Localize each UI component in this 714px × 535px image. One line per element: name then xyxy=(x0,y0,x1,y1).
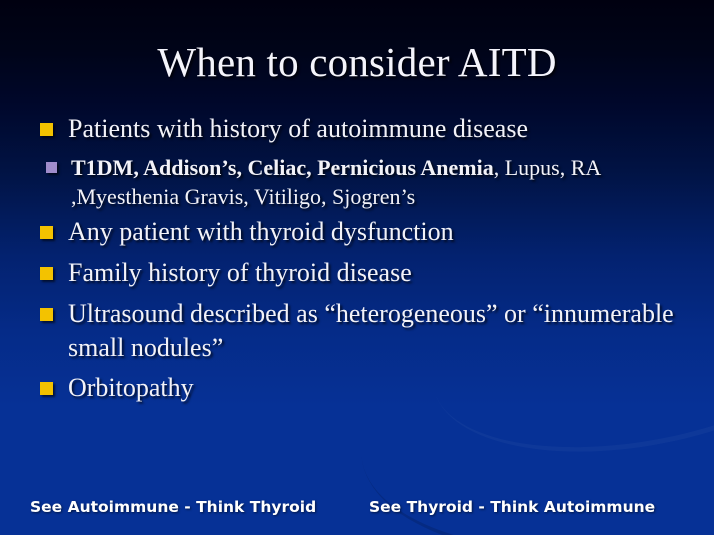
square-bullet-icon xyxy=(40,267,53,280)
list-item-label: Patients with history of autoimmune dise… xyxy=(68,114,528,143)
list-item-label: Any patient with thyroid dysfunction xyxy=(68,217,454,246)
square-bullet-icon xyxy=(40,308,53,321)
footer-tagline-right: See Thyroid - Think Autoimmune xyxy=(369,498,655,516)
bullet-list: Patients with history of autoimmune dise… xyxy=(38,112,683,412)
list-item: Family history of thyroid disease xyxy=(38,256,683,290)
square-bullet-icon xyxy=(40,226,53,239)
sub-item-label-bold: T1DM, Addison’s, Celiac, Pernicious Anem… xyxy=(71,155,494,180)
list-item: Any patient with thyroid dysfunction xyxy=(38,215,683,249)
list-item: Patients with history of autoimmune dise… xyxy=(38,112,683,146)
list-item-label: Family history of thyroid disease xyxy=(68,258,412,287)
square-bullet-icon xyxy=(46,162,57,173)
list-item-label: Ultrasound described as “heterogeneous” … xyxy=(68,299,674,362)
slide-title: When to consider AITD xyxy=(0,40,714,86)
list-item: T1DM, Addison’s, Celiac, Pernicious Anem… xyxy=(38,153,683,212)
footer-tagline-left: See Autoimmune - Think Thyroid xyxy=(30,498,316,516)
list-item-label: Orbitopathy xyxy=(68,373,194,402)
square-bullet-icon xyxy=(40,382,53,395)
presentation-slide: When to consider AITD Patients with hist… xyxy=(0,0,714,535)
square-bullet-icon xyxy=(40,123,53,136)
sub-bullet-group: T1DM, Addison’s, Celiac, Pernicious Anem… xyxy=(38,153,683,212)
list-item: Orbitopathy xyxy=(38,371,683,405)
list-item: Ultrasound described as “heterogeneous” … xyxy=(38,297,683,365)
